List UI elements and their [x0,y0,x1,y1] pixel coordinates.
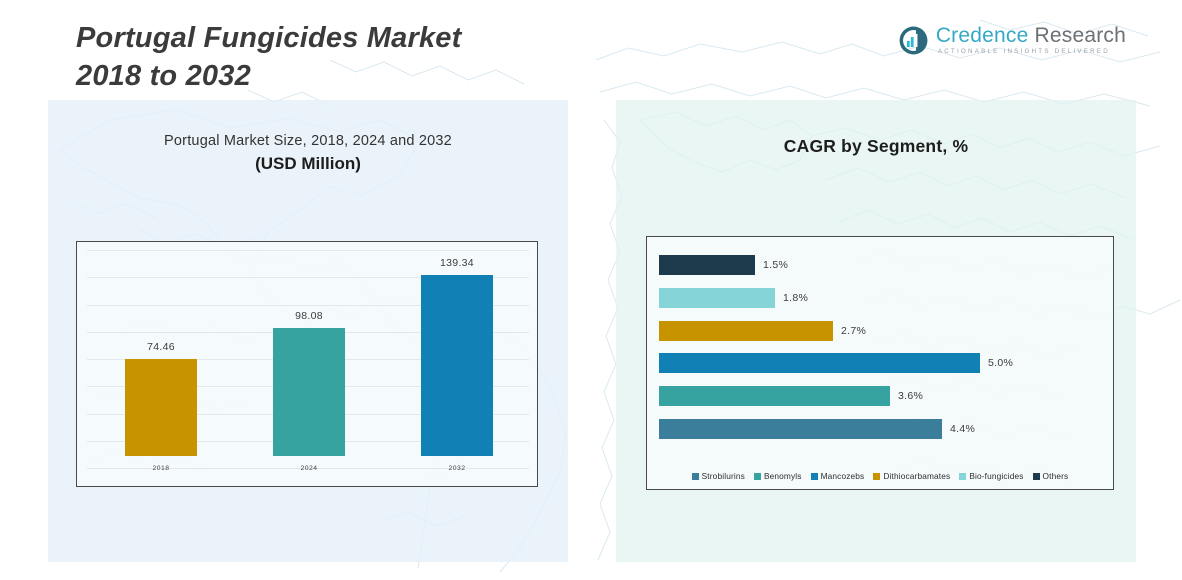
market-size-column-chart: 74.46201898.082024139.342032 [76,241,538,487]
right-chart-heading: CAGR by Segment, % [616,136,1136,157]
column-category-label: 2024 [253,465,365,472]
legend-label: Mancozebs [821,471,865,481]
credence-research-logo: Credence Research Actionable Insights De… [898,25,1126,56]
column-bar[interactable] [125,359,197,456]
horizontal-bar[interactable] [659,288,775,308]
bar-plot-area: 1.5%1.8%2.7%5.0%3.6%4.4% [659,249,1103,455]
credence-bar-chart-circle-icon [898,25,929,56]
legend-label: Dithiocarbamates [883,471,950,481]
bar-value-label: 2.7% [841,325,866,337]
cagr-by-segment-bar-chart: 1.5%1.8%2.7%5.0%3.6%4.4% StrobilurinsBen… [646,236,1114,490]
logo-tagline: Actionable Insights Delivered [938,49,1126,55]
column-value-label: 74.46 [105,341,217,353]
column-value-label: 139.34 [401,257,513,269]
bar-value-label: 1.5% [763,259,788,271]
bar-row: 2.7% [659,321,1103,341]
bar-value-label: 1.8% [783,292,808,304]
legend-item[interactable]: Bio-fungicides [959,471,1023,481]
left-chart-heading: Portugal Market Size, 2018, 2024 and 203… [48,133,568,174]
column-value-label: 98.08 [253,310,365,322]
legend-item[interactable]: Strobilurins [692,471,745,481]
infographic-root: Portugal Fungicides Market 2018 to 2032 … [0,0,1182,580]
bar-row: 4.4% [659,419,1103,439]
bar-row: 5.0% [659,353,1103,373]
logo-wordmark: Credence Research Actionable Insights De… [936,25,1126,55]
bar-value-label: 5.0% [988,357,1013,369]
horizontal-bar[interactable] [659,386,890,406]
legend-swatch-icon [692,473,699,480]
bar-row: 1.5% [659,255,1103,275]
column-group: 139.34 [421,250,493,456]
legend-label: Others [1043,471,1069,481]
legend-item[interactable]: Mancozebs [811,471,865,481]
legend-item[interactable]: Others [1033,471,1069,481]
left-chart-subtitle: (USD Million) [48,154,568,174]
column-bar[interactable] [421,275,493,456]
bar-value-label: 3.6% [898,390,923,402]
legend-swatch-icon [873,473,880,480]
legend-swatch-icon [754,473,761,480]
column-plot-area: 74.46201898.082024139.342032 [87,250,529,478]
legend-swatch-icon [959,473,966,480]
column-category-label: 2018 [105,465,217,472]
legend-item[interactable]: Benomyls [754,471,802,481]
horizontal-bar[interactable] [659,255,755,275]
logo-word-credence: Credence [936,24,1029,47]
column-group: 74.46 [125,250,197,456]
legend-label: Benomyls [764,471,802,481]
legend-item[interactable]: Dithiocarbamates [873,471,950,481]
legend-label: Bio-fungicides [969,471,1023,481]
legend-swatch-icon [811,473,818,480]
legend-swatch-icon [1033,473,1040,480]
column-group: 98.08 [273,250,345,456]
page-title: Portugal Fungicides Market 2018 to 2032 [76,20,462,95]
horizontal-bar[interactable] [659,321,833,341]
bar-value-label: 4.4% [950,423,975,435]
column-bar[interactable] [273,328,345,456]
right-chart-title: CAGR by Segment, % [616,136,1136,157]
column-category-label: 2032 [401,465,513,472]
horizontal-bar[interactable] [659,419,942,439]
legend-label: Strobilurins [702,471,745,481]
bar-row: 3.6% [659,386,1103,406]
bar-row: 1.8% [659,288,1103,308]
chart-legend: StrobilurinsBenomylsMancozebsDithiocarba… [647,471,1113,481]
horizontal-bar[interactable] [659,353,980,373]
logo-word-research: Research [1035,24,1126,47]
left-chart-title: Portugal Market Size, 2018, 2024 and 203… [48,133,568,149]
